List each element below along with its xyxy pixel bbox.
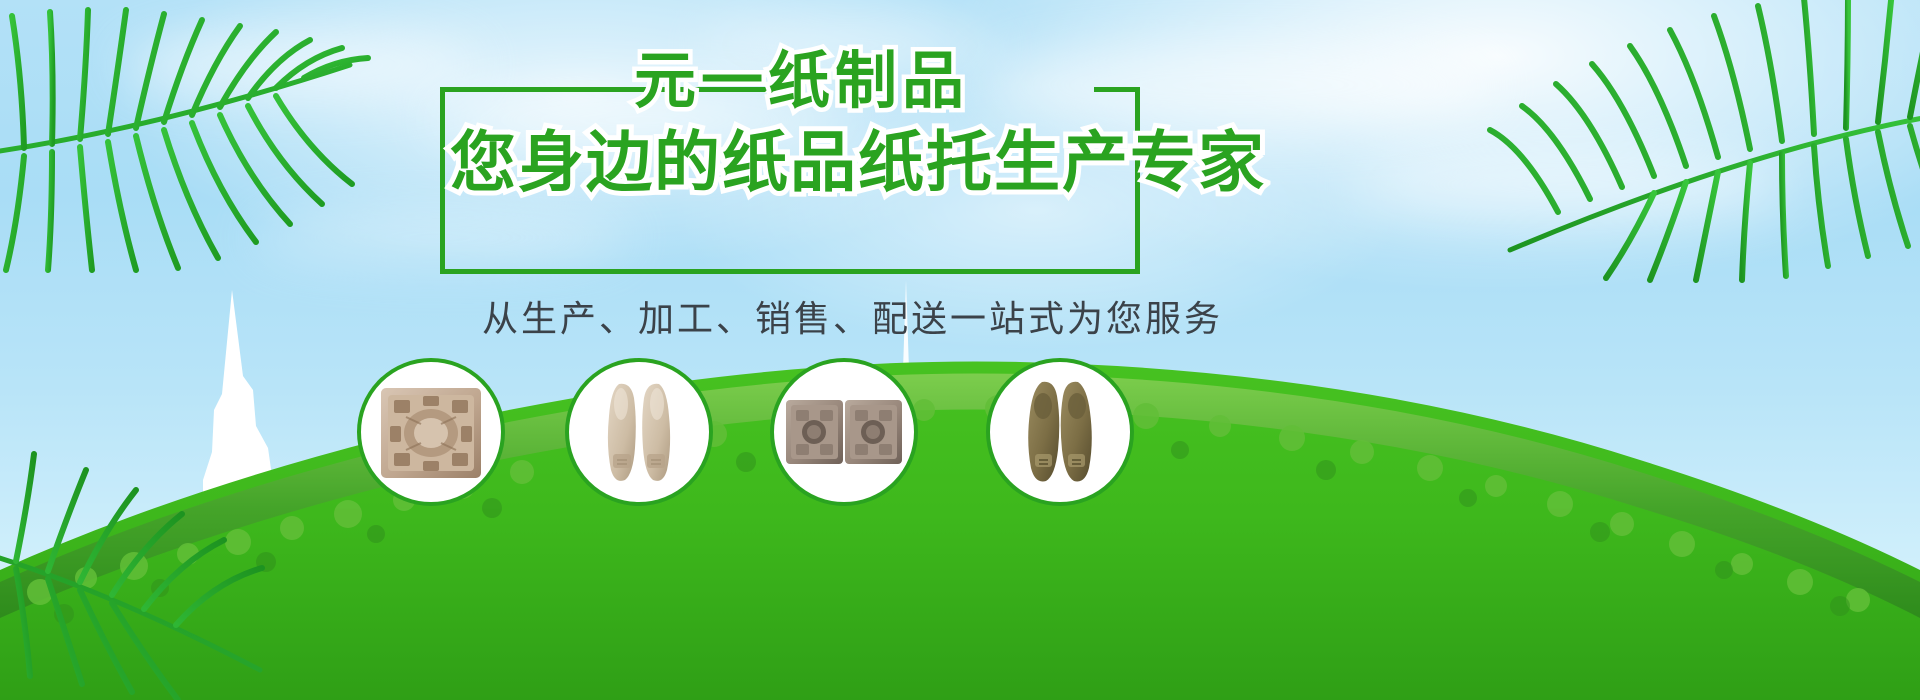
product-circle-molded-pulp-double-tray[interactable] bbox=[770, 358, 918, 506]
molded-pulp-shoe-inserts-icon bbox=[569, 362, 709, 502]
promo-banner: 元一纸制品 您身边的纸品纸托生产专家 从生产、加工、销售、配送一站式为您服务 bbox=[0, 0, 1920, 700]
molded-pulp-shoe-trees-dark-icon bbox=[990, 362, 1130, 502]
product-circle-molded-pulp-shoe-inserts[interactable] bbox=[565, 358, 713, 506]
product-circle-molded-pulp-shoe-trees-dark[interactable] bbox=[986, 358, 1134, 506]
molded-pulp-double-tray-icon bbox=[774, 362, 914, 502]
molded-pulp-square-tray-icon bbox=[361, 362, 501, 502]
product-circle-molded-pulp-square-tray[interactable] bbox=[357, 358, 505, 506]
product-circle-list bbox=[0, 0, 1920, 700]
